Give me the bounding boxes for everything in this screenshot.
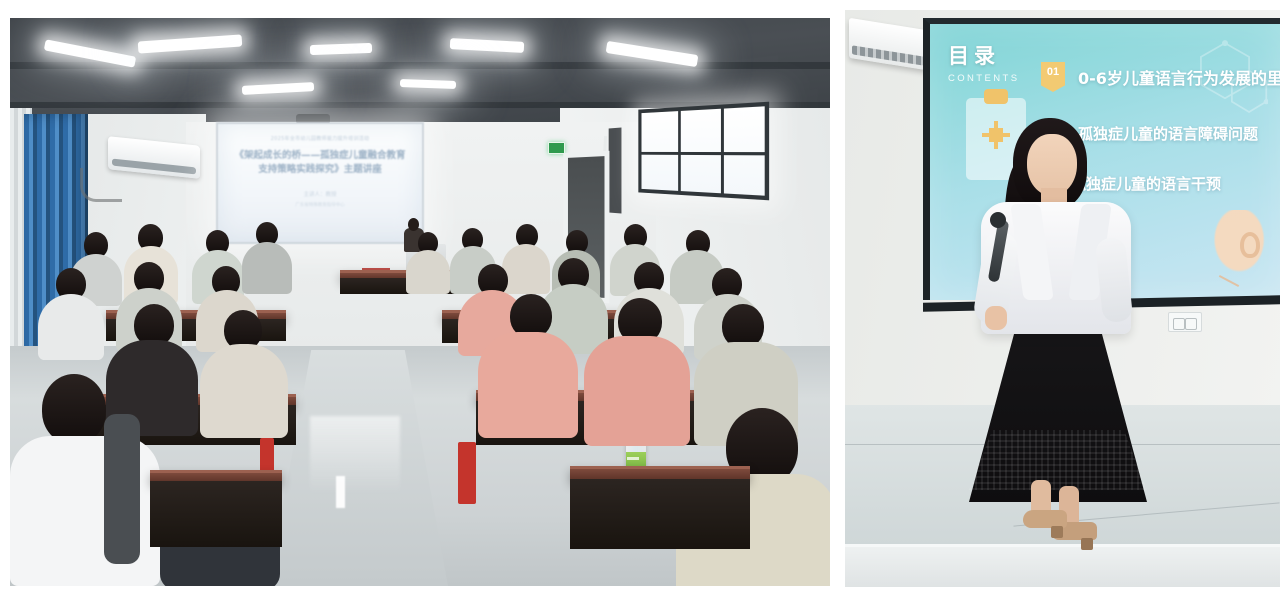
clipboard-plus	[989, 128, 1003, 142]
lecture-hall-audience-photo: 2025年全市幼儿园教师能力提升培训活动 《架起成长的桥——孤独症儿童融合教育 …	[10, 18, 830, 586]
window-mullion	[721, 109, 724, 194]
ear-inner-icon	[1240, 232, 1260, 258]
attendee-body	[406, 250, 450, 294]
attendee-body	[242, 242, 292, 294]
attendee-body	[478, 332, 578, 438]
slide-item-1: 0-6岁儿童语言行为发展的里程碑	[1078, 65, 1280, 89]
slide-heading-block: 目录 CONTENTS	[948, 40, 1019, 84]
stage-scene: 目录 CONTENTS 01 0-6岁儿童语言行为发展的里程碑 孤独症儿童的语言…	[845, 10, 1280, 587]
image-canvas: 2025年全市幼儿园教师能力提升培训活动 《架起成长的桥——孤独症儿童融合教育 …	[0, 0, 1280, 597]
wall-outlet	[1168, 312, 1202, 332]
screen-speaker-text: 主讲人：教授	[218, 192, 422, 199]
desk-row-foreground	[570, 479, 750, 549]
screen-footer-text: 广东省特殊教育指导中心	[218, 203, 422, 209]
slide-heading-en: CONTENTS	[948, 73, 1019, 84]
ac-pipe	[80, 168, 122, 202]
screen-header-text: 2025年全市幼儿园教师能力提升培训活动	[218, 136, 422, 142]
speaker-on-stage-photo: 目录 CONTENTS 01 0-6岁儿童语言行为发展的里程碑 孤独症儿童的语言…	[845, 10, 1280, 587]
floor-reflection	[310, 416, 400, 494]
screen-title-line-2: 支持策略实践探究》主题讲座	[218, 164, 422, 176]
attendee-body	[200, 344, 288, 438]
presenter-head	[408, 218, 419, 231]
window	[638, 102, 769, 201]
screen-title-line-1: 《架起成长的桥——孤独症儿童融合教育	[218, 150, 422, 162]
red-stool	[458, 442, 476, 504]
stage-face	[845, 547, 1280, 587]
attendee-body	[502, 244, 550, 294]
slide-item-3: 孤独症儿童的语言干预	[1071, 173, 1221, 194]
wall-speaker	[609, 128, 622, 214]
clipboard-clip	[984, 89, 1008, 104]
desk-row-foreground	[150, 481, 282, 547]
speaker-face	[1027, 134, 1077, 196]
projection-screen: 2025年全市幼儿园教师能力提升培训活动 《架起成长的桥——孤独症儿童融合教育 …	[216, 122, 424, 244]
slide-heading-cn: 目录	[948, 40, 1019, 70]
attendee-body	[584, 336, 690, 446]
slide-badge-01: 01	[1041, 62, 1065, 92]
attendee-body	[38, 294, 104, 360]
shoulder-strap	[104, 414, 140, 564]
speaker-skirt-texture	[969, 430, 1147, 490]
attendee-head-foreground	[42, 374, 106, 444]
slide-item-2: 孤独症儿童的语言障碍问题	[1078, 123, 1258, 144]
lecture-hall-scene: 2025年全市幼儿园教师能力提升培训活动 《架起成长的桥——孤独症儿童融合教育 …	[10, 18, 830, 586]
microphone-head	[990, 212, 1006, 228]
desk-row-foreground	[570, 466, 750, 480]
speaker-shoe	[1023, 510, 1067, 528]
speaker-hand	[985, 306, 1007, 330]
floor-light-reflection	[336, 476, 345, 508]
window-mullion	[641, 152, 764, 155]
